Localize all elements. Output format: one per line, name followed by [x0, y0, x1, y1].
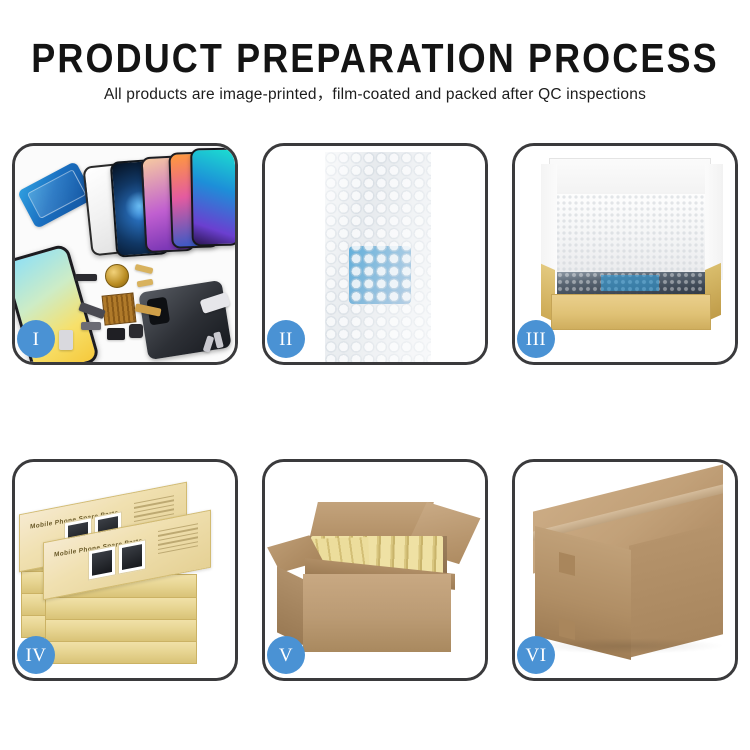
foam-liner	[555, 194, 705, 278]
spare-part	[129, 324, 143, 338]
speaker-coil-icon	[105, 264, 129, 288]
box-window	[118, 539, 146, 574]
page-subtitle: All products are image-printed，film-coat…	[0, 84, 750, 106]
spare-part	[107, 328, 125, 340]
carton-shadow	[529, 638, 725, 654]
step-badge-2: II	[267, 320, 305, 358]
steps-grid: I II III	[12, 143, 738, 681]
carton-tab	[559, 618, 575, 640]
phone-screen-teal	[190, 148, 235, 247]
step-panel-1[interactable]: I	[12, 143, 238, 365]
step-badge-3: III	[517, 320, 555, 358]
box-spec-lines	[158, 523, 198, 557]
carton-tab	[559, 552, 575, 576]
connector-chip-icon	[102, 292, 137, 325]
spare-part	[81, 322, 101, 330]
box-front-panel	[551, 294, 711, 330]
step-panel-3[interactable]: III	[512, 143, 738, 365]
spare-part	[135, 264, 154, 274]
page-title: PRODUCT PREPARATION PROCESS	[0, 36, 750, 81]
step-panel-5[interactable]: V	[262, 459, 488, 681]
step-panel-2[interactable]: II	[262, 143, 488, 365]
spare-part	[75, 274, 97, 281]
infographic-page: PRODUCT PREPARATION PROCESS All products…	[0, 0, 750, 750]
spare-part	[59, 330, 73, 350]
stacked-box	[45, 640, 197, 664]
stacked-box	[45, 618, 197, 642]
spare-part	[137, 279, 154, 288]
box-flap-left	[541, 164, 557, 280]
step-badge-4: IV	[17, 636, 55, 674]
bag-sheen	[325, 152, 431, 362]
carton-body	[303, 574, 451, 652]
step-panel-4[interactable]: Mobile Phone Spare Parts Mobile Phone	[12, 459, 238, 681]
step-panel-6[interactable]: VI	[512, 459, 738, 681]
box-window	[88, 545, 116, 580]
step-badge-5: V	[267, 636, 305, 674]
carton-side-left	[277, 566, 305, 646]
stacked-box	[45, 596, 197, 620]
step-badge-1: I	[17, 320, 55, 358]
step-badge-6: VI	[517, 636, 555, 674]
